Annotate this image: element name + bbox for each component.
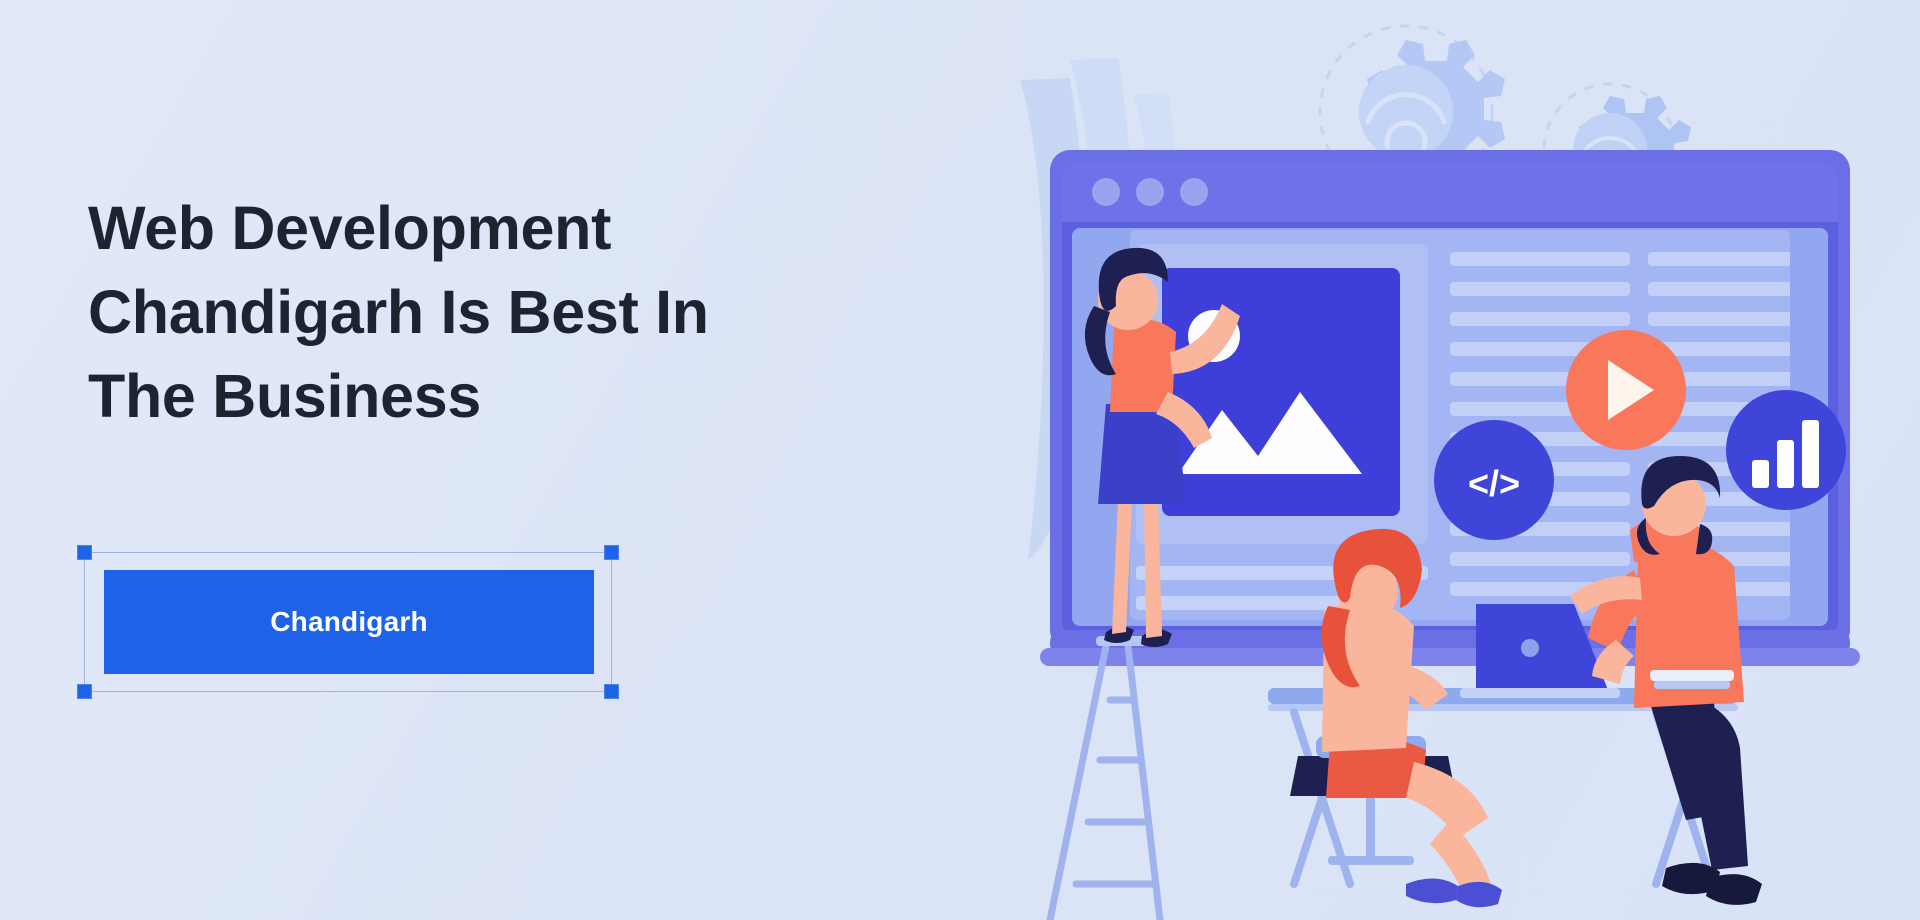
code-badge-icon[interactable]: </> [1434, 420, 1554, 540]
cta-selection-frame: Chandigarh [84, 552, 612, 692]
resize-handle-top-left[interactable] [77, 545, 92, 560]
image-placeholder-icon [1162, 268, 1400, 516]
page-title: Web Development Chandigarh Is Best In Th… [88, 186, 918, 439]
play-button-icon[interactable] [1566, 330, 1686, 450]
headline-line-1: Web Development [88, 186, 918, 270]
resize-handle-bottom-right[interactable] [604, 684, 619, 699]
chandigarh-cta-button[interactable]: Chandigarh [104, 570, 594, 674]
hero-banner: Web Development Chandigarh Is Best In Th… [0, 0, 1920, 920]
headline-line-3: The Business [88, 354, 918, 438]
headline-line-2: Chandigarh Is Best In [88, 270, 918, 354]
resize-handle-top-right[interactable] [604, 545, 619, 560]
traffic-light-dots [1092, 178, 1208, 206]
resize-handle-bottom-left[interactable] [77, 684, 92, 699]
books-on-desk [1650, 670, 1734, 689]
hero-illustration: </> [1010, 0, 1920, 920]
bar-chart-icon[interactable] [1726, 390, 1846, 510]
code-badge-label: </> [1468, 463, 1520, 504]
ladder [1050, 636, 1160, 920]
hero-text-block: Web Development Chandigarh Is Best In Th… [88, 186, 918, 439]
